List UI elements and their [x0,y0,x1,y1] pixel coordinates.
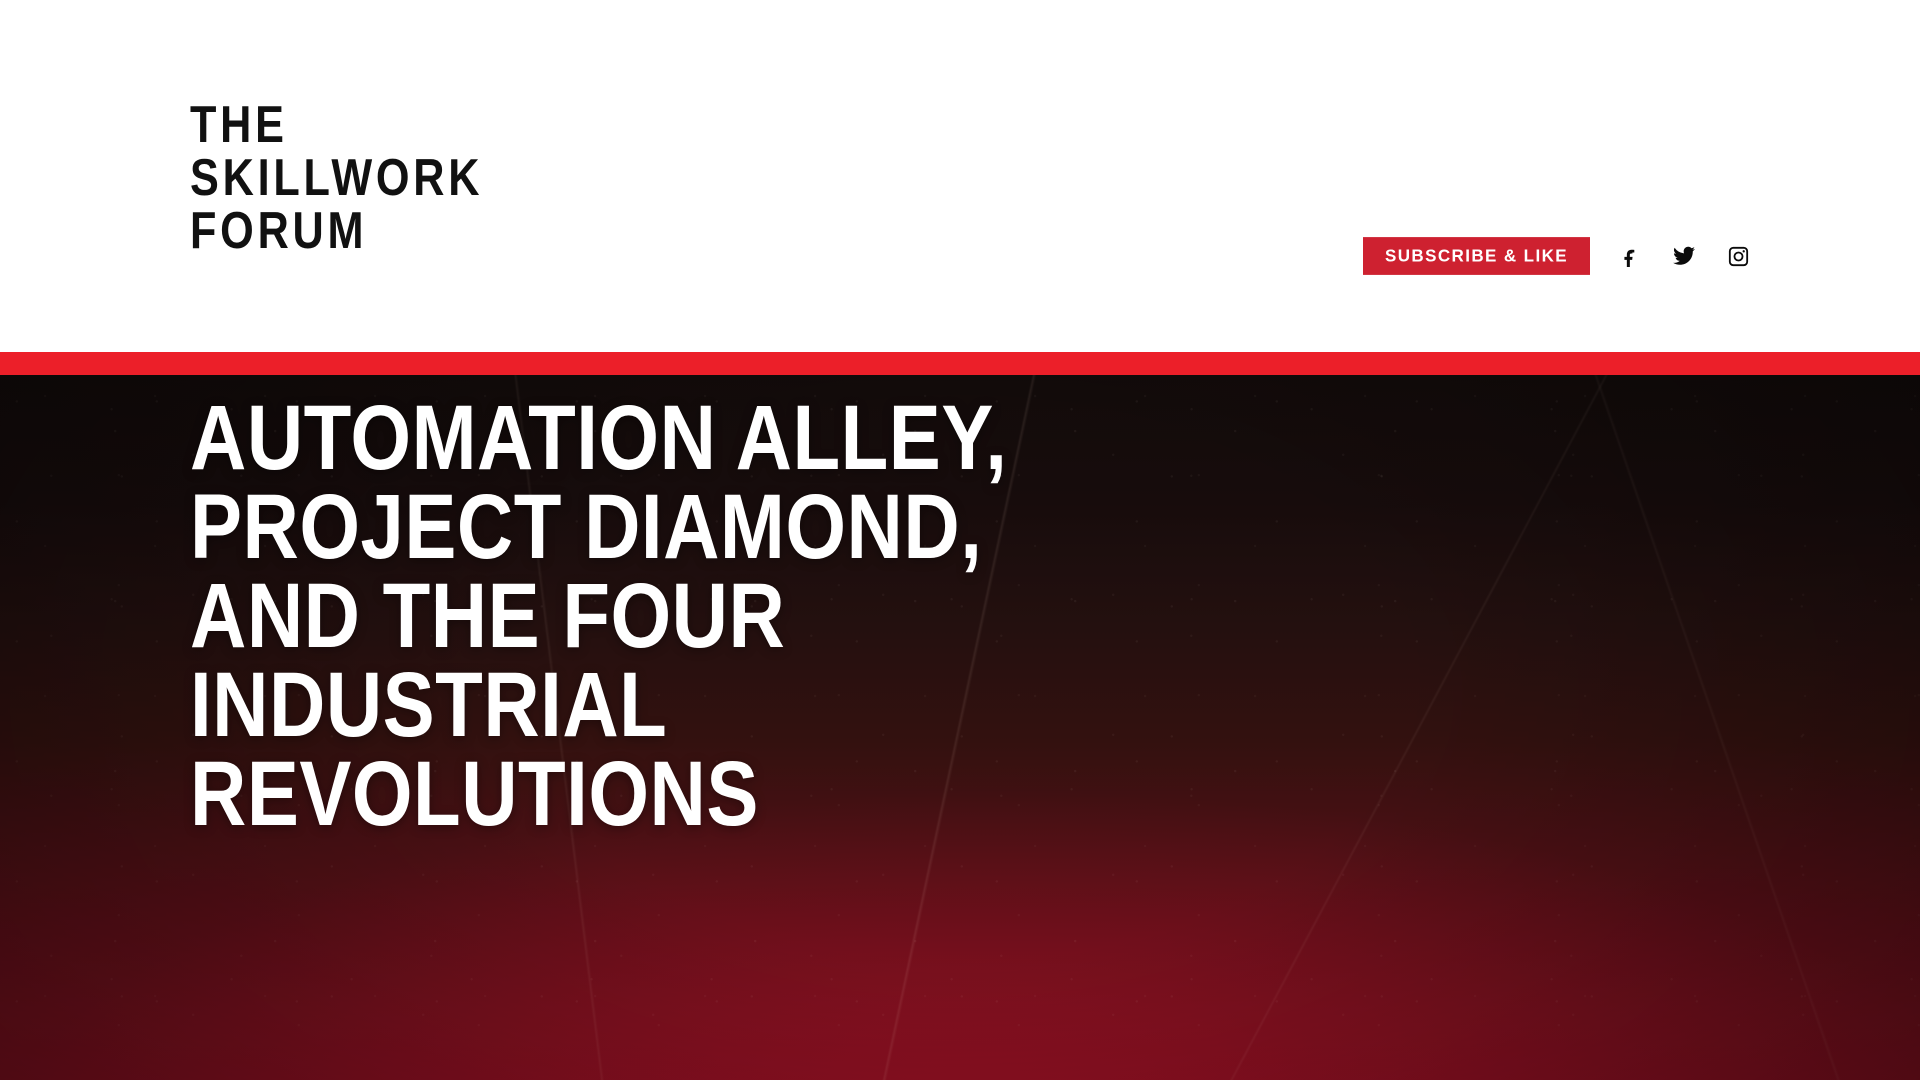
logo-line-2: SKILLWORK [190,148,483,207]
article-title-line-5: REVOLUTIONS [190,741,1007,846]
hero-banner: AUTOMATION ALLEY, PROJECT DIAMOND, AND T… [0,375,1920,1080]
logo-line-3: FORUM [190,201,483,260]
header-actions: SUBSCRIBE & LIKE [1363,238,1750,274]
site-logo[interactable]: THE SKILLWORK FORUM [190,95,502,254]
page-root: THE SKILLWORK FORUM SUBSCRIBE & LIKE [0,0,1920,1080]
twitter-icon [1672,244,1696,268]
logo-line-1: THE [190,95,483,154]
subscribe-and-like-button[interactable]: SUBSCRIBE & LIKE [1363,237,1590,275]
instagram-icon [1727,245,1750,268]
article-title: AUTOMATION ALLEY, PROJECT DIAMOND, AND T… [190,385,1007,830]
instagram-link[interactable] [1726,244,1750,268]
red-divider-bar [0,352,1920,375]
facebook-link[interactable] [1618,244,1642,268]
twitter-link[interactable] [1672,244,1696,268]
social-links [1618,244,1750,268]
facebook-icon [1619,245,1641,267]
site-header: THE SKILLWORK FORUM SUBSCRIBE & LIKE [0,0,1920,352]
